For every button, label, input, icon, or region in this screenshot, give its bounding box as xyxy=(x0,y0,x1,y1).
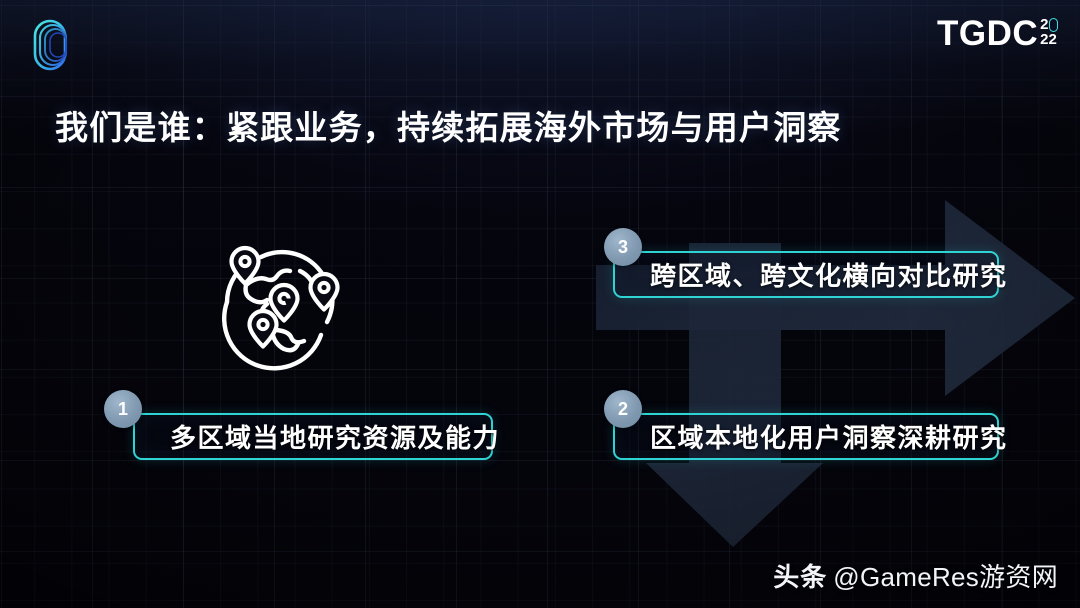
brand-year-oval-icon xyxy=(1049,18,1058,32)
background-arrow-group xyxy=(0,0,1080,608)
brand-year-digit-2: 2 xyxy=(1040,17,1048,32)
background-fine-grid xyxy=(0,0,1080,608)
list-item-1-label: 多区域当地研究资源及能力 xyxy=(170,418,500,455)
nested-oval-logo-icon xyxy=(30,15,74,75)
list-item-1-number-badge: 1 xyxy=(104,390,142,428)
list-item-3-number-badge: 3 xyxy=(604,228,642,266)
brand-lockup: TGDC 2 22 xyxy=(937,16,1058,51)
globe-with-location-pins-icon xyxy=(205,232,355,372)
list-item-2-label: 区域本地化用户洞察深耕研究 xyxy=(650,418,1008,455)
brand-wordmark: TGDC xyxy=(937,16,1038,51)
list-item-2-number-badge: 2 xyxy=(604,390,642,428)
list-item-3[interactable]: 跨区域、跨文化横向对比研究 xyxy=(613,251,999,298)
brand-year-bottom: 22 xyxy=(1040,32,1058,47)
arrow-right-shape xyxy=(596,200,1075,396)
slide-canvas: TGDC 2 22 我们是谁：紧跟业务，持续拓展海外市场与用户洞察 xyxy=(0,0,1080,608)
background-major-grid xyxy=(0,0,1080,608)
brand-year-top: 2 xyxy=(1040,17,1058,32)
watermark: 头条 @GameRes游资网 xyxy=(773,557,1058,594)
page-title: 我们是谁：紧跟业务，持续拓展海外市场与用户洞察 xyxy=(55,101,842,149)
list-item-1[interactable]: 多区域当地研究资源及能力 xyxy=(133,413,493,460)
background-vignette xyxy=(0,0,1080,608)
brand-year: 2 22 xyxy=(1040,17,1058,48)
list-item-2[interactable]: 区域本地化用户洞察深耕研究 xyxy=(613,413,999,460)
watermark-handle: @GameRes游资网 xyxy=(833,557,1058,594)
watermark-source: 头条 xyxy=(773,557,827,594)
list-item-3-label: 跨区域、跨文化横向对比研究 xyxy=(650,256,1008,293)
